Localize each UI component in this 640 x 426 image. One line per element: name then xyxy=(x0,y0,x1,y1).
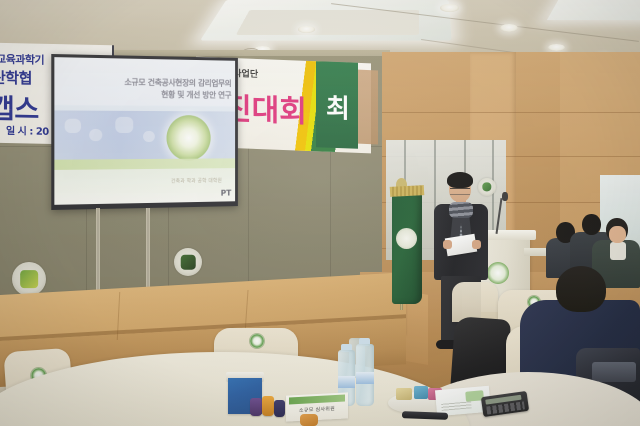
seated-attendee-face xyxy=(609,226,626,243)
glasses-icon xyxy=(450,188,470,195)
jar xyxy=(274,400,285,417)
downlight-icon xyxy=(440,4,459,12)
jacket-panel xyxy=(592,362,636,382)
seated-attendee-shirt xyxy=(610,242,626,260)
projection-screen-surface: 소규모 건축공사현장의 감리업무의 현황 및 개선 방안 연구 건축과 학과 공… xyxy=(54,57,235,205)
wall-emblem-icon xyxy=(12,262,46,296)
projection-screen: 소규모 건축공사현장의 감리업무의 현황 및 개선 방안 연구 건축과 학과 공… xyxy=(51,54,238,210)
speaker-hand xyxy=(472,240,481,249)
slide-green-bar xyxy=(54,158,235,170)
bottle-label xyxy=(356,372,374,384)
conference-hall-photo: 교육과학기 산학협 캡스 일 시 : 20 NC 사업단 진대회 최 소규모 건… xyxy=(0,0,640,426)
downlight-icon xyxy=(548,44,565,51)
microphone-icon xyxy=(502,192,508,201)
foreground-attendee-head xyxy=(556,266,606,312)
wall-emblem-icon xyxy=(174,248,202,276)
downlight-icon xyxy=(298,26,315,33)
snack-item xyxy=(414,386,428,399)
banner-edge-shadow xyxy=(356,70,378,145)
slide-title: 소규모 건축공사현장의 감리업무의 현황 및 개선 방안 연구 xyxy=(63,76,232,102)
banner-left-line3: 캡스 xyxy=(0,87,39,127)
slide-blob xyxy=(65,119,81,133)
podium-logo-icon xyxy=(487,262,509,284)
flag-fringe xyxy=(390,185,424,197)
flag-emblem-icon xyxy=(396,228,417,249)
jar xyxy=(262,396,274,416)
snack-item xyxy=(396,388,412,400)
document-text-lines xyxy=(441,401,471,411)
slide-center-emblem-icon xyxy=(167,115,211,161)
slide-title-line2: 현황 및 개선 방안 연구 xyxy=(63,88,232,102)
speaker-hair xyxy=(447,172,473,188)
ceiling-light-panel-right xyxy=(547,0,640,20)
downlight-icon xyxy=(500,24,518,32)
slide-blob xyxy=(143,131,155,142)
name-card-stripe xyxy=(289,395,345,405)
banner-left-line2: 산학협 xyxy=(0,67,32,89)
seated-attendee-head xyxy=(582,214,601,235)
wall-emblem-icon xyxy=(478,178,496,196)
water-bottle xyxy=(356,344,374,406)
slide-watermark: PT xyxy=(221,189,232,198)
bottle-label xyxy=(338,376,355,388)
wood-seam xyxy=(382,112,640,113)
wall-emblem-core xyxy=(181,255,196,270)
name-card-text: 소규모 심사위원 xyxy=(286,404,348,414)
vertical-green-banner: 최 xyxy=(316,61,358,149)
chair-with-cover xyxy=(452,282,498,322)
chair-logo-icon xyxy=(250,334,264,348)
jar xyxy=(250,398,262,416)
ceiling-panel-inner xyxy=(236,10,419,35)
table-small-object xyxy=(300,414,318,426)
slide-subtitle: 건축과 학과 공학 대학원 xyxy=(171,177,222,185)
slide-blob xyxy=(89,129,102,141)
slide-blob xyxy=(115,117,133,133)
speaker-scarf xyxy=(449,202,473,218)
wall-emblem-core xyxy=(482,182,491,191)
vertical-banner-char: 최 xyxy=(317,87,359,126)
banner-left-line1: 교육과학기 xyxy=(0,51,44,68)
banner-left-date: 일 시 : 20 xyxy=(6,122,49,138)
wall-emblem-core xyxy=(20,270,38,288)
speaker-hand xyxy=(443,240,452,249)
